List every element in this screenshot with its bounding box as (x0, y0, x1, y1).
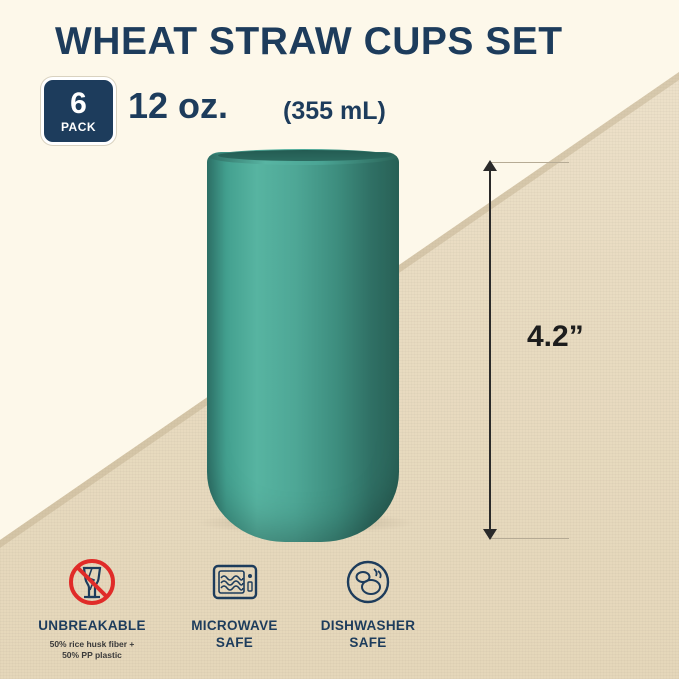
feature-unbreakable-caption: UNBREAKABLE (22, 618, 162, 635)
product-infographic: WHEAT STRAW CUPS SET 6 PACK 12 oz. (355 … (0, 0, 679, 679)
height-dimension-label: 4.2” (527, 320, 584, 354)
dimension-tick-bottom (489, 538, 569, 539)
cup-rim-interior (218, 150, 392, 161)
capacity-ounces: 12 oz. (128, 85, 228, 127)
pack-count-label: PACK (61, 121, 96, 133)
dishwasher-safe-icon (294, 554, 442, 610)
feature-dishwasher: DISHWASHER SAFE (294, 554, 442, 652)
dimension-line (489, 168, 491, 530)
feature-unbreakable: UNBREAKABLE 50% rice husk fiber + 50% PP… (22, 554, 162, 661)
feature-unbreakable-subtext: 50% rice husk fiber + 50% PP plastic (22, 639, 162, 661)
capacity-milliliters: (355 mL) (283, 97, 386, 126)
page-title: WHEAT STRAW CUPS SET (55, 20, 563, 64)
feature-icon-row: UNBREAKABLE 50% rice husk fiber + 50% PP… (22, 548, 442, 668)
cup-product-image (207, 152, 399, 542)
pack-count-badge: 6 PACK (41, 77, 116, 145)
cup-body (207, 152, 399, 542)
cup-rim (209, 149, 397, 165)
dimension-arrow-bottom-icon (483, 529, 497, 540)
broken-glass-prohibited-icon (22, 554, 162, 610)
feature-microwave-caption: MICROWAVE SAFE (167, 618, 302, 652)
dimension-arrow-top-icon (483, 160, 497, 171)
feature-microwave: MICROWAVE SAFE (167, 554, 302, 652)
microwave-safe-icon (167, 554, 302, 610)
dimension-tick-top (489, 162, 569, 163)
feature-dishwasher-caption: DISHWASHER SAFE (294, 618, 442, 652)
pack-count-number: 6 (70, 89, 87, 119)
